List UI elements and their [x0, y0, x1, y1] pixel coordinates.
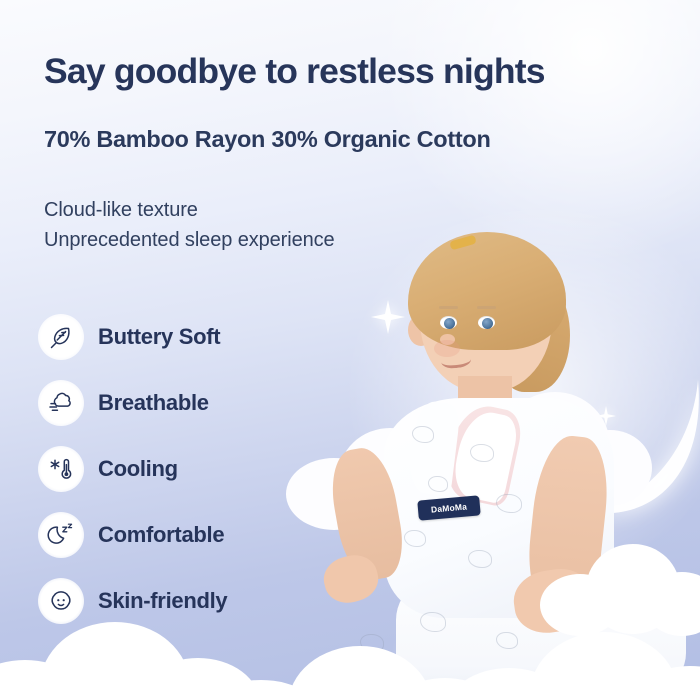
tagline-line-1: Cloud-like texture	[44, 196, 335, 226]
page-title: Say goodbye to restless nights	[44, 52, 664, 91]
baby-iris	[444, 318, 455, 329]
fabric-print	[420, 612, 446, 632]
baby-eyebrow	[477, 306, 496, 309]
fabric-print	[470, 444, 494, 462]
feature-list: Buttery Soft Breathable	[38, 308, 328, 638]
feature-item-breathable: Breathable	[38, 374, 328, 431]
feather-icon	[38, 314, 84, 360]
baby-eyebrow	[439, 306, 458, 309]
fabric-print	[612, 648, 634, 665]
feature-item-buttery-soft: Buttery Soft	[38, 308, 328, 365]
moon-zzz-icon	[38, 512, 84, 558]
feature-label: Breathable	[98, 390, 209, 416]
brand-tag-label: DaMoMa	[431, 501, 468, 514]
fabric-print	[360, 634, 384, 652]
baby-photo: DaMoMa	[300, 230, 700, 700]
tagline: Cloud-like texture Unprecedented sleep e…	[44, 196, 335, 255]
baby-iris	[482, 318, 493, 329]
product-feature-poster: DaMoMa Say goodbye to restless nights 70…	[0, 0, 700, 700]
baby-hair	[408, 232, 566, 350]
feature-label: Comfortable	[98, 522, 224, 548]
baby-face-icon	[38, 578, 84, 624]
fabric-print	[412, 426, 434, 443]
feature-item-comfortable: Comfortable	[38, 506, 328, 563]
tagline-line-2: Unprecedented sleep experience	[44, 226, 335, 256]
material-subtitle: 70% Bamboo Rayon 30% Organic Cotton	[44, 126, 491, 153]
snowflake-thermometer-icon	[38, 446, 84, 492]
fabric-print	[496, 494, 522, 513]
fabric-print	[404, 530, 426, 547]
feature-label: Buttery Soft	[98, 324, 220, 350]
feature-item-skin-friendly: Skin-friendly	[38, 572, 328, 629]
cloud-wind-icon	[38, 380, 84, 426]
fabric-print	[428, 476, 448, 492]
fabric-print	[468, 550, 492, 568]
feature-label: Skin-friendly	[98, 588, 227, 614]
feature-label: Cooling	[98, 456, 178, 482]
fabric-print	[496, 632, 518, 649]
feature-item-cooling: Cooling	[38, 440, 328, 497]
